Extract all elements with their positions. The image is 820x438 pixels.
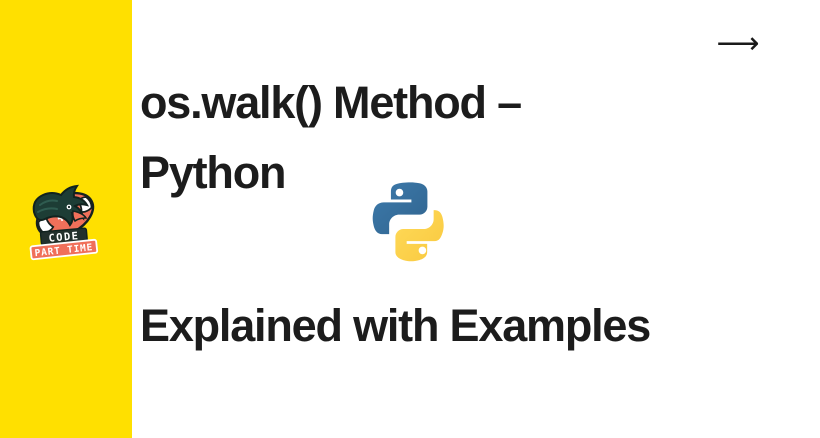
- arrow-right-icon: ⟶: [714, 26, 762, 62]
- page-title-line-2: Python: [140, 138, 800, 208]
- page-title: os.walk() Method – Python: [140, 68, 800, 208]
- page-subtitle: Explained with Examples: [140, 295, 810, 357]
- page-title-line-1: os.walk() Method –: [140, 68, 800, 138]
- slide-canvas: CODE PART TIME ⟶ os.walk() Method – Pyth…: [0, 0, 820, 438]
- brand-logo: CODE PART TIME: [21, 181, 107, 261]
- python-logo: [367, 176, 455, 264]
